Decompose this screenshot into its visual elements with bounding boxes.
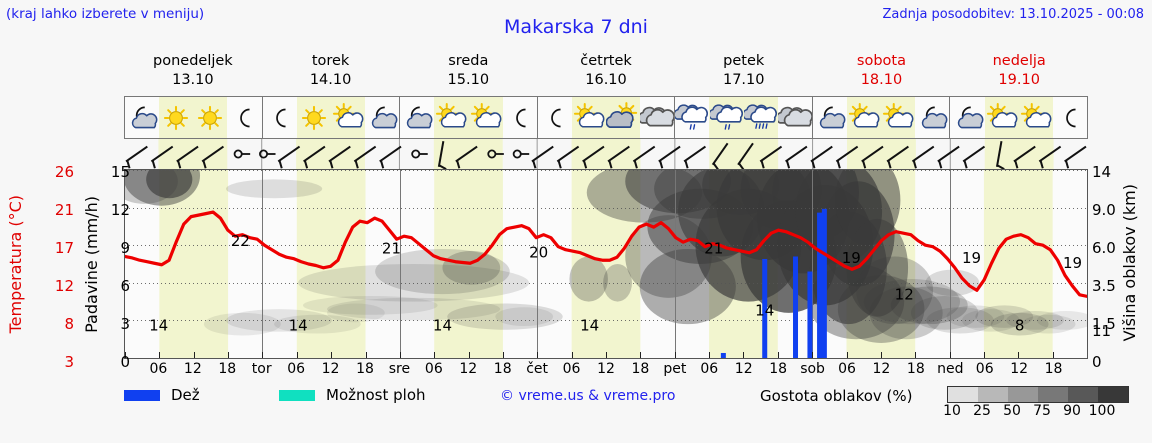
- day-column-sobota: sobota18.10: [813, 52, 951, 94]
- precipitation-tick: 3: [120, 315, 130, 333]
- weather-icon-cell: [434, 97, 468, 138]
- temperature-label: 19: [962, 249, 981, 267]
- cloud-density-ramp-labels: 1025507590100: [944, 403, 1144, 421]
- wind-barb: [684, 147, 705, 169]
- time-label: 12: [322, 361, 340, 377]
- showers-legend-label: Možnost ploh: [326, 386, 426, 404]
- wind-barb: [659, 147, 680, 169]
- time-label: sre: [389, 361, 410, 377]
- moon-cloud-icon: [365, 101, 399, 135]
- cloud-density-swatch: [948, 387, 978, 402]
- temperature-label: 21: [704, 240, 723, 258]
- weather-icon-cell: [881, 97, 915, 138]
- day-column-nedelja: nedelja19.10: [950, 52, 1088, 94]
- sun-cloud-icon: [469, 101, 503, 135]
- weather-icon-cell: [125, 97, 159, 138]
- cloud-density-swatch: [1098, 387, 1128, 402]
- day-date: 19.10: [950, 71, 1088, 90]
- temperature-axis-label: Temperatura (°C): [6, 195, 25, 333]
- x-tickmarks: [126, 352, 1088, 358]
- day-date: 16.10: [537, 71, 675, 90]
- temperature-label: 12: [895, 286, 914, 304]
- time-label: tor: [252, 361, 272, 377]
- rain-legend-label: Dež: [171, 386, 200, 404]
- wind-barb-band: [124, 139, 1088, 169]
- time-label: pet: [663, 361, 686, 377]
- cloud-density-color-ramp: [947, 386, 1129, 403]
- rain-bar: [721, 353, 726, 358]
- wind-barb: [811, 147, 832, 169]
- cloud-height-tick: 6.0: [1092, 239, 1116, 257]
- day-header-row: ponedeljek13.10torek14.10sreda15.10četrt…: [124, 52, 1088, 94]
- temperature-end-label: 11: [1092, 322, 1111, 340]
- weather-icon-cell: [193, 97, 227, 138]
- day-name: nedelja: [950, 52, 1088, 71]
- weather-icon-cell: [985, 97, 1019, 138]
- temperature-label: 14: [433, 317, 452, 335]
- wind-barb: [514, 150, 530, 157]
- temperature-tick: 12: [55, 277, 74, 295]
- cloud-height-tick: 0: [1092, 353, 1102, 371]
- precipitation-tick: 15: [111, 163, 130, 181]
- cloud-height-tick: 3.5: [1092, 277, 1116, 295]
- day-name: sreda: [399, 52, 537, 71]
- cloud-density-swatch: [1068, 387, 1098, 402]
- sun-cloud-icon: [434, 101, 468, 135]
- temperature-label: 22: [231, 232, 250, 250]
- time-label: sob: [800, 361, 825, 377]
- temperature-label: 19: [842, 249, 861, 267]
- moon-cloud-icon: [951, 101, 985, 135]
- temperature-label: 20: [529, 243, 548, 261]
- sun-cloud-icon: [1019, 101, 1053, 135]
- temperature-tick: 17: [55, 239, 74, 257]
- cloud-density-tick: 90: [1063, 403, 1081, 419]
- time-label: 06: [150, 361, 168, 377]
- time-axis-labels: 061218tor061218sre061218čet061218pet0612…: [124, 361, 1088, 381]
- wind-barb: [786, 147, 807, 169]
- moon-icon: [263, 101, 297, 135]
- time-label: 06: [425, 361, 443, 377]
- time-label: čet: [526, 361, 548, 377]
- time-label: 18: [1045, 361, 1063, 377]
- time-label: 18: [356, 361, 374, 377]
- time-label: 12: [184, 361, 202, 377]
- cloud-height-tick: 9.0: [1092, 201, 1116, 219]
- moon-cloud-icon: [915, 101, 949, 135]
- cloud-rain-light-icon: [675, 101, 709, 135]
- temperature-label: 21: [382, 240, 401, 258]
- cloud-rain-heavy-icon: [744, 101, 778, 135]
- temperature-label: 8: [1015, 317, 1025, 335]
- last-update-text: Zadnja posodobitev: 13.10.2025 - 00:08: [882, 7, 1144, 22]
- temperature-label: 19: [1063, 254, 1082, 272]
- day-column-četrtek: četrtek16.10: [537, 52, 675, 94]
- time-label: 18: [769, 361, 787, 377]
- cloud-rain-light-icon: [710, 101, 744, 135]
- day-name: četrtek: [537, 52, 675, 71]
- cloud-density-tick: 10: [943, 403, 961, 419]
- wind-barb: [235, 150, 251, 157]
- weather-icon-cell: [503, 97, 537, 138]
- time-label: 12: [873, 361, 891, 377]
- sun-icon: [159, 101, 193, 135]
- temperature-tick: 8: [64, 315, 74, 333]
- weather-icon-cell: [263, 97, 297, 138]
- day-name: ponedeljek: [124, 52, 262, 71]
- time-label: 06: [563, 361, 581, 377]
- day-date: 17.10: [675, 71, 813, 90]
- rain-bar: [807, 272, 812, 358]
- weather-icon-cell: [606, 97, 640, 138]
- cloud-density-swatch: [1038, 387, 1068, 402]
- cloud-icon: [778, 101, 812, 135]
- sun-cloud-icon: [572, 101, 606, 135]
- weather-icon-cell: [1019, 97, 1053, 138]
- precipitation-tick-labels: 15129630: [96, 162, 130, 362]
- cloud-height-tick: 14: [1092, 163, 1111, 181]
- weather-icon-cell: [640, 97, 674, 138]
- sun-cloud-icon: [985, 101, 1019, 135]
- icon-day-nedelja: [950, 97, 1087, 138]
- day-date: 18.10: [813, 71, 951, 90]
- sun-cloud-grey-icon: [606, 101, 640, 135]
- icon-day-ponedeljek: [125, 97, 263, 138]
- precipitation-tick: 12: [111, 201, 130, 219]
- temperature-axis-title: Temperatura (°C): [6, 168, 25, 360]
- day-name: torek: [262, 52, 400, 71]
- weather-icon-cell: [365, 97, 399, 138]
- time-label: 12: [1010, 361, 1028, 377]
- wind-barb: [532, 147, 553, 169]
- weather-icon-cell: [813, 97, 847, 138]
- moon-cloud-icon: [125, 101, 159, 135]
- weather-icon-cell: [915, 97, 949, 138]
- wind-barb: [963, 147, 984, 169]
- cloud-density-tick: 75: [1033, 403, 1051, 419]
- wind-barb: [260, 150, 276, 157]
- weather-icon-cell: [675, 97, 709, 138]
- icon-day-četrtek: [538, 97, 676, 138]
- time-label: 06: [976, 361, 994, 377]
- temperature-tick: 21: [55, 201, 74, 219]
- temperature-tick-labels: 2621171283: [40, 162, 74, 362]
- rain-bar: [822, 209, 827, 358]
- day-date: 13.10: [124, 71, 262, 90]
- meteogram-plot: 142214211420142114191219819: [124, 169, 1088, 359]
- time-label: 12: [735, 361, 753, 377]
- weather-icon-cell: [538, 97, 572, 138]
- time-label: 18: [907, 361, 925, 377]
- cloud-density-tick: 25: [973, 403, 991, 419]
- weather-icon-cell: [744, 97, 778, 138]
- wind-barb: [1065, 147, 1086, 169]
- showers-legend-swatch: [279, 390, 315, 401]
- weather-icon-cell: [227, 97, 261, 138]
- sun-cloud-icon: [847, 101, 881, 135]
- day-column-ponedeljek: ponedeljek13.10: [124, 52, 262, 94]
- icon-day-sobota: [813, 97, 951, 138]
- temperature-label: 14: [580, 317, 599, 335]
- rain-bar: [817, 213, 822, 358]
- moon-icon: [227, 101, 261, 135]
- day-column-sreda: sreda15.10: [399, 52, 537, 94]
- weather-icon-cell: [400, 97, 434, 138]
- cloud-density-swatch: [978, 387, 1008, 402]
- time-label: 18: [632, 361, 650, 377]
- time-label: 12: [597, 361, 615, 377]
- precipitation-tick: 6: [120, 277, 130, 295]
- weather-icon-cell: [1053, 97, 1087, 138]
- temperature-tick: 26: [55, 163, 74, 181]
- chart-legend: Dež Možnost ploh © vreme.us & vreme.pro …: [124, 386, 1144, 430]
- temperature-label: 14: [289, 317, 308, 335]
- weather-icon-cell: [709, 97, 743, 138]
- sun-cloud-icon: [881, 101, 915, 135]
- day-name: sobota: [813, 52, 951, 71]
- day-date: 15.10: [399, 71, 537, 90]
- rain-legend-swatch: [124, 390, 160, 401]
- weather-icon-cell: [778, 97, 812, 138]
- cloud-icon: [640, 101, 674, 135]
- time-label: 06: [287, 361, 305, 377]
- wind-barb-svg: [124, 139, 1088, 169]
- weather-icon-cell: [950, 97, 984, 138]
- cloud-density-tick: 50: [1003, 403, 1021, 419]
- wind-barb: [938, 147, 959, 169]
- time-label: ned: [937, 361, 963, 377]
- icon-day-torek: [263, 97, 401, 138]
- time-label: 12: [459, 361, 477, 377]
- temperature-tick: 3: [64, 353, 74, 371]
- moon-icon: [1053, 101, 1087, 135]
- time-label: 06: [700, 361, 718, 377]
- moon-icon: [503, 101, 537, 135]
- precipitation-tick: 9: [120, 239, 130, 257]
- weather-icon-cell: [331, 97, 365, 138]
- weather-icon-cell: [159, 97, 193, 138]
- day-date: 14.10: [262, 71, 400, 90]
- time-label: 18: [218, 361, 236, 377]
- day-column-petek: petek17.10: [675, 52, 813, 94]
- day-name: petek: [675, 52, 813, 71]
- temperature-label: 14: [149, 317, 168, 335]
- weather-icon-cell: [847, 97, 881, 138]
- moon-cloud-icon: [400, 101, 434, 135]
- time-label: 06: [838, 361, 856, 377]
- moon-cloud-icon: [813, 101, 847, 135]
- time-label: 18: [494, 361, 512, 377]
- weather-icon-cell: [297, 97, 331, 138]
- wind-barb: [380, 147, 401, 169]
- meteogram-svg: 142214211420142114191219819: [125, 170, 1087, 358]
- copyright-text[interactable]: © vreme.us & vreme.pro: [500, 388, 675, 404]
- cloud-density-swatch: [1008, 387, 1038, 402]
- moon-icon: [538, 101, 572, 135]
- icon-day-sreda: [400, 97, 538, 138]
- day-column-torek: torek14.10: [262, 52, 400, 94]
- weather-icon-cell: [468, 97, 502, 138]
- sun-icon: [297, 101, 331, 135]
- cloud-density-legend-title: Gostota oblakov (%): [760, 387, 913, 405]
- rain-bar: [793, 256, 798, 358]
- wind-barb: [412, 150, 428, 157]
- sun-cloud-icon: [331, 101, 365, 135]
- icon-day-petek: [675, 97, 813, 138]
- sun-icon: [193, 101, 227, 135]
- weather-icon-cell: [572, 97, 606, 138]
- cloud-density-tick: 100: [1089, 403, 1116, 419]
- temperature-label: 14: [755, 302, 774, 320]
- weather-icon-band: [124, 96, 1088, 139]
